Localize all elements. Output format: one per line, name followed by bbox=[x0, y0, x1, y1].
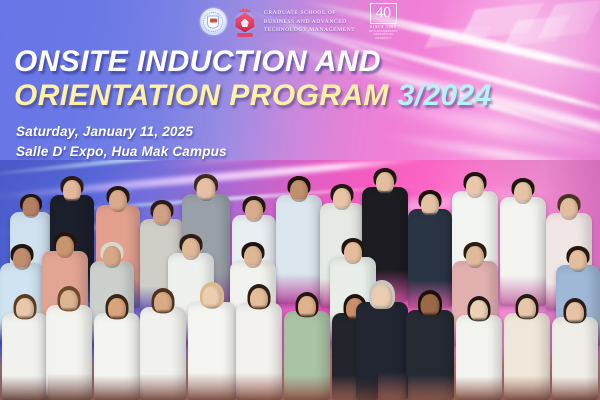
seal-emblem-icon bbox=[207, 15, 219, 28]
attendee bbox=[46, 286, 92, 400]
anniversary-badge: 40 SINCE 1985 40TH ANNIVERSARY ASSUMPTIO… bbox=[366, 3, 400, 41]
attendee-face bbox=[333, 188, 351, 210]
attendee bbox=[188, 282, 236, 400]
university-seal-icon bbox=[200, 8, 227, 35]
attendee-torso bbox=[456, 315, 502, 400]
attendee-face bbox=[421, 194, 439, 216]
title-line-2-main: ORIENTATION PROGRAM bbox=[14, 79, 389, 112]
attendee-face bbox=[244, 246, 262, 268]
attendee-torso bbox=[500, 197, 546, 306]
attendee-torso bbox=[406, 310, 454, 400]
attendee-face bbox=[298, 296, 316, 318]
event-poster: GRADUATE SCHOOL OF BUSINESS AND ADVANCED… bbox=[0, 0, 600, 400]
attendee bbox=[94, 294, 140, 400]
title-line-2: ORIENTATION PROGRAM 3/2024 bbox=[14, 80, 492, 112]
attendee-face bbox=[514, 182, 532, 204]
crest-base bbox=[237, 33, 253, 37]
attendee-face bbox=[470, 300, 488, 322]
attendee-torso bbox=[504, 313, 550, 400]
attendee-torso bbox=[94, 313, 140, 400]
attendee-torso bbox=[552, 317, 598, 400]
attendee-face bbox=[566, 302, 584, 324]
anniversary-since-text: SINCE 1985 bbox=[366, 25, 400, 29]
event-venue: Salle D' Expo, Hua Mak Campus bbox=[16, 144, 227, 159]
attendee-face bbox=[290, 180, 308, 202]
attendee-face bbox=[109, 190, 127, 212]
attendee-face bbox=[203, 286, 222, 309]
poster-title: ONSITE INDUCTION AND ORIENTATION PROGRAM… bbox=[14, 46, 492, 113]
attendee bbox=[504, 294, 550, 400]
attendee-torso bbox=[356, 302, 408, 400]
anniversary-sub-text: 40TH ANNIVERSARY ASSUMPTION UNIVERSITY bbox=[366, 30, 400, 41]
attendee-face bbox=[518, 298, 536, 320]
attendee bbox=[406, 290, 454, 400]
anniversary-frame: 40 bbox=[370, 3, 397, 24]
attendee-face bbox=[16, 298, 34, 320]
attendee-torso bbox=[236, 303, 282, 400]
attendee-face bbox=[153, 204, 171, 226]
attendee-face bbox=[60, 290, 78, 312]
attendee-face bbox=[13, 248, 31, 270]
attendee bbox=[456, 296, 502, 400]
attendee-face bbox=[569, 250, 587, 272]
attendee bbox=[276, 176, 322, 304]
title-line-2-accent: 3/2024 bbox=[398, 79, 492, 112]
attendee-face bbox=[421, 294, 440, 317]
attendee-face bbox=[466, 246, 484, 268]
attendee-face bbox=[63, 180, 81, 202]
attendee-face bbox=[250, 288, 268, 310]
attendee-face bbox=[197, 178, 216, 201]
attendee-face bbox=[245, 200, 263, 222]
attendee-torso bbox=[46, 305, 92, 400]
header-logo-row: GRADUATE SCHOOL OF BUSINESS AND ADVANCED… bbox=[0, 3, 600, 41]
attendee-face bbox=[23, 197, 40, 218]
attendee-face bbox=[344, 242, 362, 264]
attendee-face bbox=[372, 284, 393, 310]
attendee-face bbox=[182, 238, 200, 260]
assumption-crest-icon bbox=[232, 6, 258, 37]
attendee bbox=[356, 280, 408, 400]
attendee-torso bbox=[284, 311, 330, 400]
attendee bbox=[236, 284, 282, 400]
attendee-face bbox=[376, 172, 394, 194]
attendee-face bbox=[560, 198, 578, 220]
attendee bbox=[500, 178, 546, 306]
attendee-torso bbox=[276, 195, 322, 304]
attendee bbox=[140, 288, 186, 400]
attendee bbox=[552, 298, 598, 400]
attendee-torso bbox=[140, 307, 186, 400]
attendee-face bbox=[108, 298, 126, 320]
attendee-face bbox=[466, 176, 484, 198]
attendee-face bbox=[56, 236, 74, 258]
event-date: Saturday, January 11, 2025 bbox=[16, 124, 193, 139]
attendee-face bbox=[154, 292, 172, 314]
anniversary-number: 40 bbox=[376, 5, 391, 21]
title-line-1: ONSITE INDUCTION AND bbox=[14, 46, 492, 78]
attendee bbox=[284, 292, 330, 400]
attendee-torso bbox=[188, 302, 236, 400]
school-name-text: GRADUATE SCHOOL OF BUSINESS AND ADVANCED… bbox=[263, 9, 355, 35]
attendee bbox=[2, 294, 48, 400]
attendee-face bbox=[103, 246, 121, 268]
group-photo bbox=[0, 160, 600, 400]
attendee-torso bbox=[2, 313, 48, 400]
